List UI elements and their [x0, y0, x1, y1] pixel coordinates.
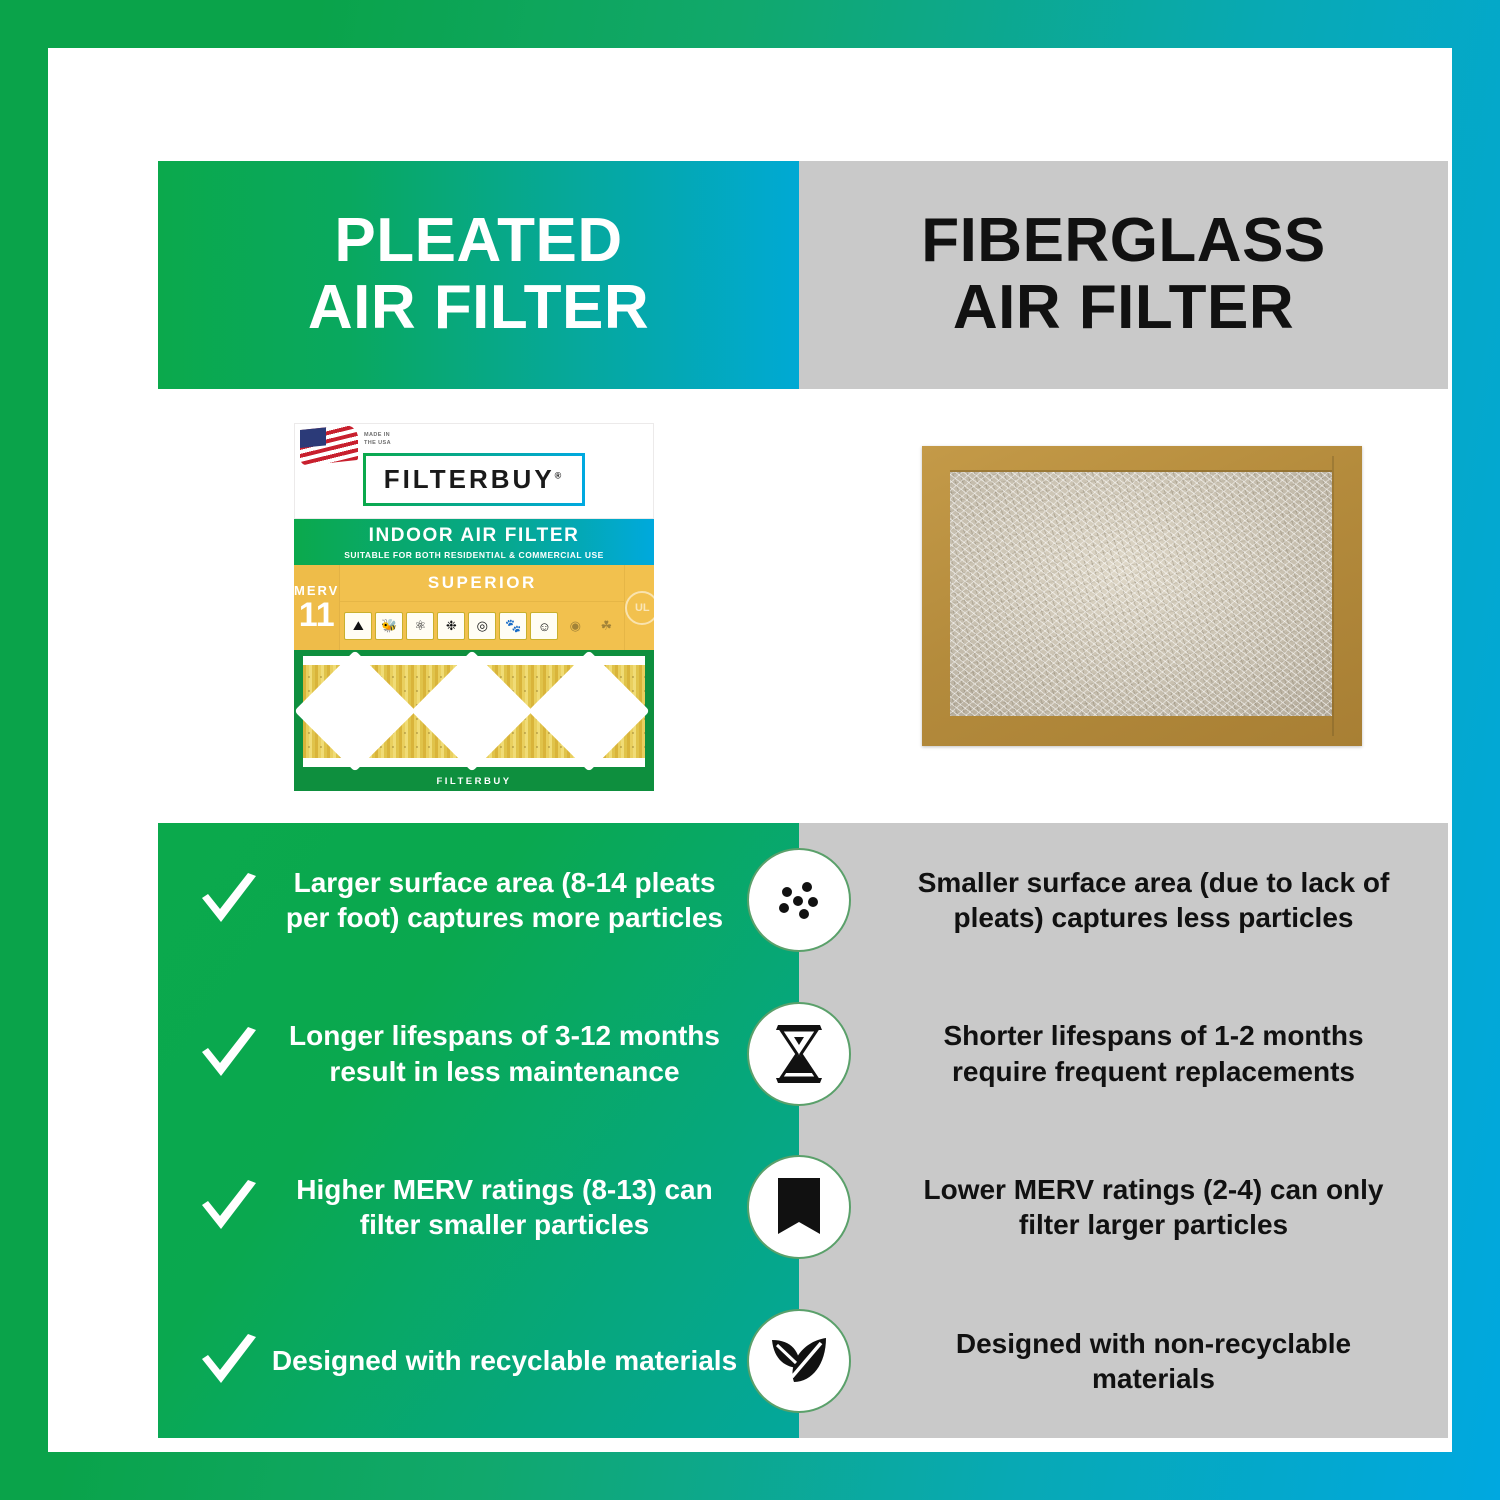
content-surface: PLEATED AIR FILTER FIBERGLASS AIR FILTER…	[48, 48, 1452, 1452]
particles-icon	[747, 848, 851, 952]
comparison-row: Higher MERV ratings (8-13) can filter sm…	[158, 1131, 1448, 1285]
ul-certification-icon: UL	[625, 591, 659, 625]
page-title-fiberglass: FIBERGLASS AIR FILTER	[921, 208, 1326, 342]
comparison-row: Longer lifespans of 3-12 months result i…	[158, 977, 1448, 1131]
header-fiberglass: FIBERGLASS AIR FILTER	[799, 161, 1448, 389]
virus-icon: ⚛	[406, 612, 434, 640]
filterbuy-logo: FILTERBUY®	[363, 453, 586, 506]
grade-label: SUPERIOR	[340, 565, 624, 602]
checkmark-icon	[190, 1333, 268, 1389]
comparison-row: Larger surface area (8-14 pleats per foo…	[158, 823, 1448, 977]
bacteria-icon: ◎	[468, 612, 496, 640]
usa-flag-icon	[300, 424, 358, 466]
bookmark-icon	[747, 1155, 851, 1259]
feature-icon-strip: ⛰ 🐝 ⚛ ❉ ◎ 🐾 ☺ ◉ ☘	[340, 602, 624, 650]
grade-block: SUPERIOR ⛰ 🐝 ⚛ ❉ ◎ 🐾 ☺ ◉ ☘	[340, 565, 624, 650]
made-in-usa-label: MADE IN THE USA	[364, 431, 391, 448]
dust-mite-icon: 🐝	[375, 612, 403, 640]
fiberglass-drawback-text: Shorter lifespans of 1-2 months require …	[799, 1018, 1448, 1089]
pleated-benefit-text: Longer lifespans of 3-12 months result i…	[268, 1018, 799, 1089]
merv-value: 11	[299, 598, 335, 632]
pleated-cell: Larger surface area (8-14 pleats per foo…	[158, 865, 799, 936]
package-subtitle-band: INDOOR AIR FILTER SUITABLE FOR BOTH RESI…	[294, 519, 654, 565]
fiberglass-filter-product-image	[922, 446, 1362, 746]
pet-dander-icon: 🐾	[499, 612, 527, 640]
header-pleated: PLEATED AIR FILTER	[158, 161, 799, 389]
page-title-pleated: PLEATED AIR FILTER	[308, 208, 649, 342]
checkmark-icon	[190, 1179, 268, 1235]
flag-canton	[300, 427, 326, 448]
suitability-label: SUITABLE FOR BOTH RESIDENTIAL & COMMERCI…	[344, 550, 604, 560]
hourglass-icon	[747, 1002, 851, 1106]
sprout-icon: ☘	[592, 612, 620, 640]
certification-block: UL	[624, 565, 659, 650]
smoke-icon: ☺	[530, 612, 558, 640]
fiberglass-drawback-text: Designed with non-recyclable materials	[799, 1326, 1448, 1397]
fiberglass-drawback-text: Smaller surface area (due to lack of ple…	[799, 865, 1448, 936]
comparison-row: Designed with recyclable materials Desig…	[158, 1284, 1448, 1438]
pleated-benefit-text: Designed with recyclable materials	[268, 1343, 799, 1378]
pleated-benefit-text: Larger surface area (8-14 pleats per foo…	[268, 865, 799, 936]
fiberglass-media-texture	[950, 472, 1332, 716]
pollen-icon: ❉	[437, 612, 465, 640]
package-footer-brand: FILTERBUY	[294, 776, 654, 787]
capsule-icon: ◉	[561, 612, 589, 640]
fiberglass-drawback-text: Lower MERV ratings (2-4) can only filter…	[799, 1172, 1448, 1243]
brand-name: FILTERBUY®	[384, 464, 565, 494]
merv-block: MERV 11	[294, 565, 340, 650]
header-row: PLEATED AIR FILTER FIBERGLASS AIR FILTER	[158, 161, 1448, 389]
product-image-row: MADE IN THE USA FILTERBUY® INDOOR AIR FI…	[158, 389, 1448, 823]
outer-gradient-frame: PLEATED AIR FILTER FIBERGLASS AIR FILTER…	[0, 0, 1500, 1500]
frame-seam-right	[1332, 456, 1334, 736]
indoor-air-filter-label: INDOOR AIR FILTER	[369, 525, 580, 547]
pleated-cell: Longer lifespans of 3-12 months result i…	[158, 1018, 799, 1089]
pleated-filter-product-image: MADE IN THE USA FILTERBUY® INDOOR AIR FI…	[294, 423, 654, 791]
checkmark-icon	[190, 1026, 268, 1082]
pleated-media-panel: FILTERBUY	[294, 650, 654, 791]
checkmark-icon	[190, 872, 268, 928]
package-header: MADE IN THE USA FILTERBUY®	[294, 423, 654, 519]
comparison-rows: Larger surface area (8-14 pleats per foo…	[158, 823, 1448, 1438]
pleated-cell: Higher MERV ratings (8-13) can filter sm…	[158, 1172, 799, 1243]
comparison-panel: Larger surface area (8-14 pleats per foo…	[158, 823, 1448, 1438]
merv-rating-band: MERV 11 SUPERIOR ⛰ 🐝 ⚛ ❉ ◎ 🐾 ☺	[294, 565, 654, 650]
pleated-benefit-text: Higher MERV ratings (8-13) can filter sm…	[268, 1172, 799, 1243]
pleated-cell: Designed with recyclable materials	[158, 1333, 799, 1389]
dust-icon: ⛰	[344, 612, 372, 640]
leaves-icon	[747, 1309, 851, 1413]
